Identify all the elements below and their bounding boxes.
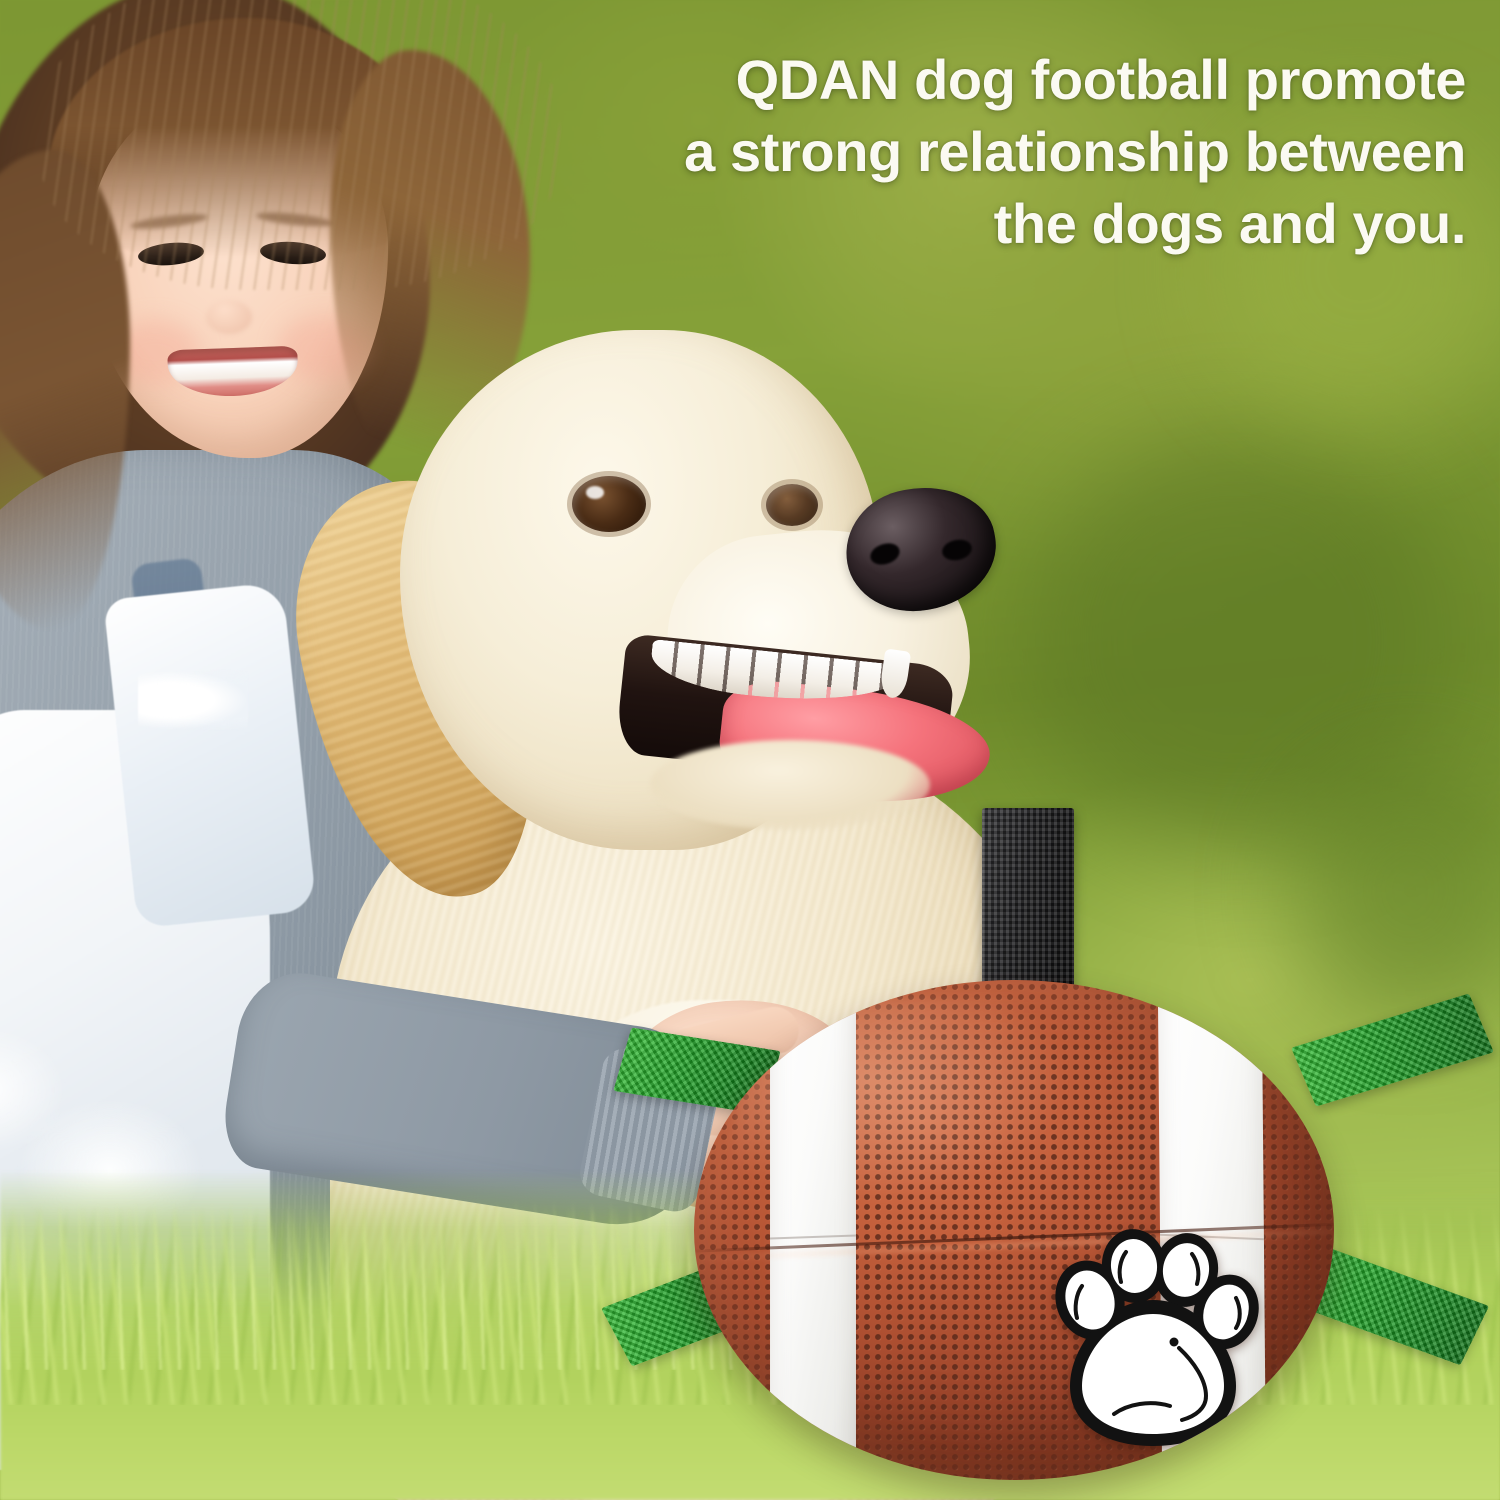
- dog-eye: [572, 476, 646, 532]
- girl-nose: [206, 300, 252, 334]
- stripe-seam: [770, 1234, 856, 1239]
- headline-text: QDAN dog football promote a strong relat…: [566, 44, 1466, 260]
- dog-eye-highlight: [586, 486, 604, 499]
- dress-bib: [103, 581, 317, 928]
- product-marketing-image: QDAN dog football promote a strong relat…: [0, 0, 1500, 1500]
- girl-hair-wisps: [40, 0, 560, 290]
- ball-white-stripe-left: [770, 980, 856, 1480]
- headline-line-1: QDAN dog football promote: [566, 44, 1466, 116]
- paw-print-icon: [1046, 1228, 1260, 1460]
- headline-line-2: a strong relationship between: [566, 116, 1466, 188]
- dog-football-product: [600, 790, 1500, 1500]
- headline-line-3: the dogs and you.: [566, 188, 1466, 260]
- dog-eye: [766, 484, 818, 526]
- dress-bow: [138, 670, 248, 730]
- football-ball: [694, 980, 1334, 1480]
